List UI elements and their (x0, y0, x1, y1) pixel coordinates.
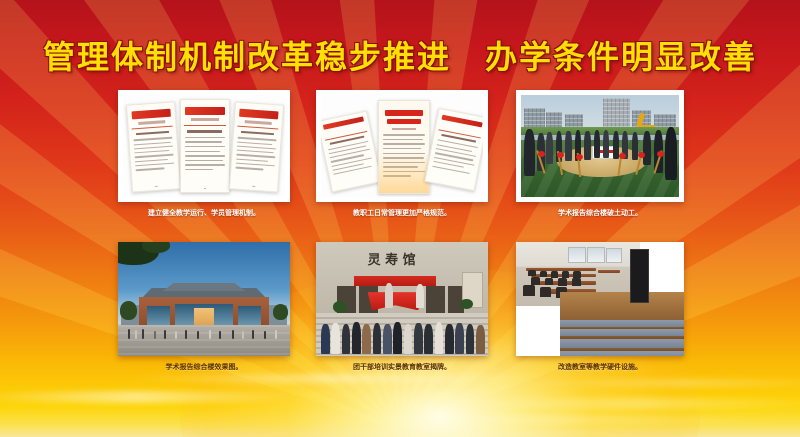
photo-cell-academic-hall-rendering: 学术报告综合楼效果图。 (118, 242, 290, 376)
photo-caption: 团干部培训实景教育教室揭牌。 (316, 362, 488, 372)
tree-foliage (120, 301, 137, 319)
document-sheet (126, 102, 181, 193)
photo-frame (516, 90, 684, 202)
photo-cell-documents-staff-code: 教职工日常管理更加严格规范。 (316, 90, 488, 220)
photo-image-renovated-classrooms (516, 242, 684, 356)
photo-image-documents-staff-code (321, 95, 483, 197)
groundbreaking-scene (521, 95, 679, 197)
red-event-banner (354, 276, 437, 286)
page-title: 管理体制机制改革稳步推进 办学条件明显改善 (43, 32, 757, 78)
headline-banner: 管理体制机制改革稳步推进 办学条件明显改善 (0, 32, 800, 78)
document-sheet (424, 108, 483, 192)
roof-upper (159, 283, 248, 291)
document-sheet (180, 99, 231, 193)
composite-white-gap (516, 317, 560, 356)
projection-screen (630, 249, 649, 303)
cloud-wisp (430, 398, 800, 409)
photo-image-academic-hall-rendering (118, 242, 290, 356)
cloud-wisp (300, 416, 800, 423)
photo-frame (516, 242, 684, 356)
unveiling-scene: 灵 寿 馆 (316, 242, 488, 356)
building-rendering-scene (118, 242, 290, 356)
document-scan-group (321, 95, 483, 197)
photo-frame (316, 90, 488, 202)
photo-cell-renovated-classrooms: 改造教室等教学硬件设施。 (516, 242, 684, 376)
propaganda-board: 管理体制机制改革稳步推进 办学条件明显改善 (0, 0, 800, 437)
photo-image-groundbreaking-ceremony (521, 95, 679, 197)
photo-cell-plaque-unveiling-ceremony: 灵 寿 馆 (316, 242, 488, 376)
photo-frame: 灵 寿 馆 (316, 242, 488, 356)
photo-caption: 建立健全教学运行、学员管理机制。 (118, 208, 290, 218)
lecture-hall-photo (560, 292, 684, 356)
photo-caption: 学术报告综合楼效果图。 (118, 362, 290, 372)
document-scan-group (123, 95, 285, 197)
photo-caption: 教职工日常管理更加严格规范。 (316, 208, 488, 218)
photo-frame (118, 90, 290, 202)
document-sheet (229, 102, 284, 193)
classroom-composite (516, 242, 684, 356)
document-sheet-featured (378, 100, 430, 194)
photo-cell-groundbreaking-ceremony: 学术报告综合楼破土动工。 (516, 90, 684, 220)
cloud-wisp (0, 391, 300, 403)
photo-image-documents-management-rules (123, 95, 285, 197)
photo-image-plaque-unveiling-ceremony: 灵 寿 馆 (316, 242, 488, 356)
photo-frame (118, 242, 290, 356)
photo-caption: 改造教室等教学硬件设施。 (516, 362, 684, 372)
building-nameplate: 灵 寿 馆 (368, 249, 416, 268)
photo-caption: 学术报告综合楼破土动工。 (516, 208, 684, 218)
tree-foliage (273, 304, 288, 320)
cloud-wisp (520, 379, 800, 387)
document-sheet (321, 111, 382, 193)
photo-cell-documents-management-rules: 建立健全教学运行、学员管理机制。 (118, 90, 290, 220)
